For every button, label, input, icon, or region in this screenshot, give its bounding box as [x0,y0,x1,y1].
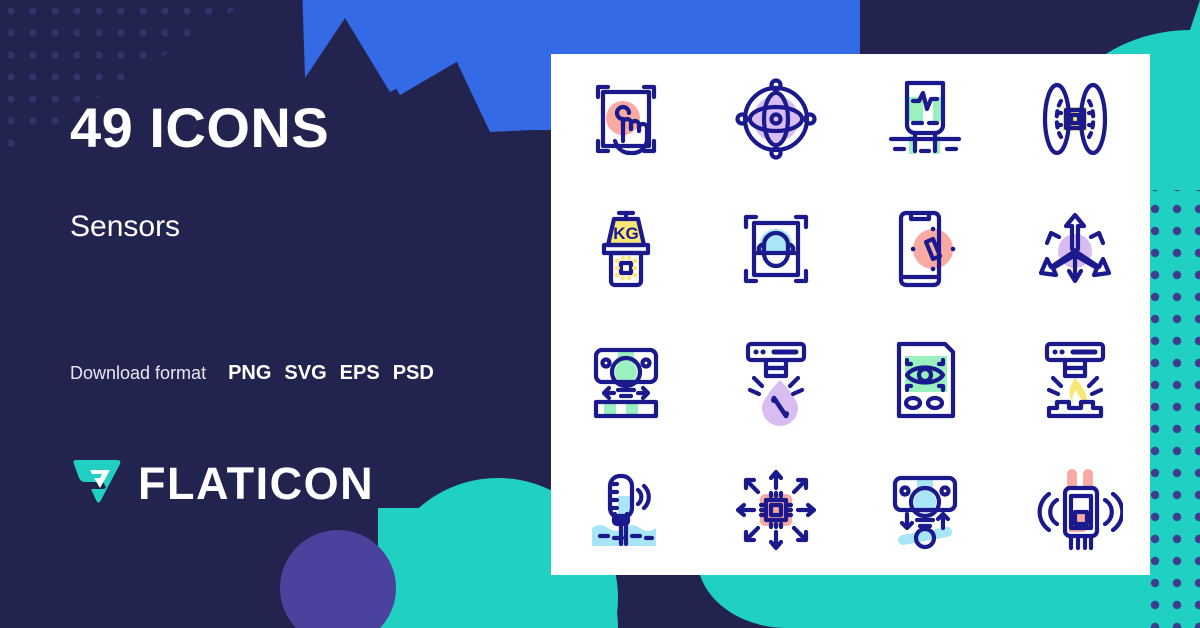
format-svg[interactable]: SVG [284,362,326,385]
icon-grid-card: KG [551,54,1150,575]
object-detection-sensor-icon [877,462,973,558]
chip-radiation-sensor-icon [728,462,824,558]
promo-banner: 49 ICONS Sensors Download format PNG SVG… [0,0,1200,628]
icon-cell-gyroscope-sensor[interactable] [701,54,851,184]
icon-cell-iris-eye-scanner[interactable] [851,315,1001,445]
icon-cell-vibration-chip-sensor[interactable] [1000,445,1150,575]
vibration-chip-sensor-icon [1027,462,1123,558]
icon-cell-phone-compass-sensor[interactable] [851,184,1001,314]
icon-cell-face-recognition-sensor[interactable] [701,184,851,314]
page-title: 49 ICONS [70,100,329,156]
gyroscope-sensor-icon [728,71,824,167]
icon-cell-object-detection-sensor[interactable] [851,445,1001,575]
water-level-sensor-icon [578,462,674,558]
icon-cell-humidity-sensor[interactable]: % [701,315,851,445]
magnetic-field-sensor-icon [1027,71,1123,167]
brand-logo: FLATICON [70,458,374,508]
icon-cell-accelerometer-axis[interactable] [1000,184,1150,314]
icon-cell-chip-radiation-sensor[interactable] [701,445,851,575]
phone-compass-sensor-icon [877,201,973,297]
touch-screen-sensor-icon [578,71,674,167]
brand-name: FLATICON [138,461,374,506]
seismograph-sensor-icon [877,71,973,167]
smoke-fire-detector-icon [1027,332,1123,428]
download-format-label: Download format [70,363,206,384]
left-content-column: 49 ICONS Sensors Download format PNG SVG… [0,0,551,628]
icon-cell-magnetic-field-sensor[interactable] [1000,54,1150,184]
humidity-sensor-icon: % [728,332,824,428]
icon-cell-seismograph-sensor[interactable] [851,54,1001,184]
icon-cell-water-level-sensor[interactable] [551,445,701,575]
proximity-motion-sensor-icon [578,332,674,428]
icon-cell-smoke-fire-detector[interactable] [1000,315,1150,445]
icon-cell-weight-kg-sensor[interactable]: KG [551,184,701,314]
format-eps[interactable]: EPS [340,362,380,385]
format-psd[interactable]: PSD [393,362,434,385]
format-png[interactable]: PNG [228,362,271,385]
icon-cell-proximity-motion-sensor[interactable] [551,315,701,445]
accelerometer-axis-icon [1027,201,1123,297]
iris-eye-scanner-icon [877,332,973,428]
flaticon-logo-mark-icon [70,458,124,508]
weight-unit-text: KG [613,224,639,243]
weight-kg-sensor-icon: KG [578,201,674,297]
category-subtitle: Sensors [70,212,180,242]
download-format-row: Download format PNG SVG EPS PSD [70,362,434,385]
icon-cell-touch-screen-sensor[interactable] [551,54,701,184]
face-recognition-sensor-icon [728,201,824,297]
